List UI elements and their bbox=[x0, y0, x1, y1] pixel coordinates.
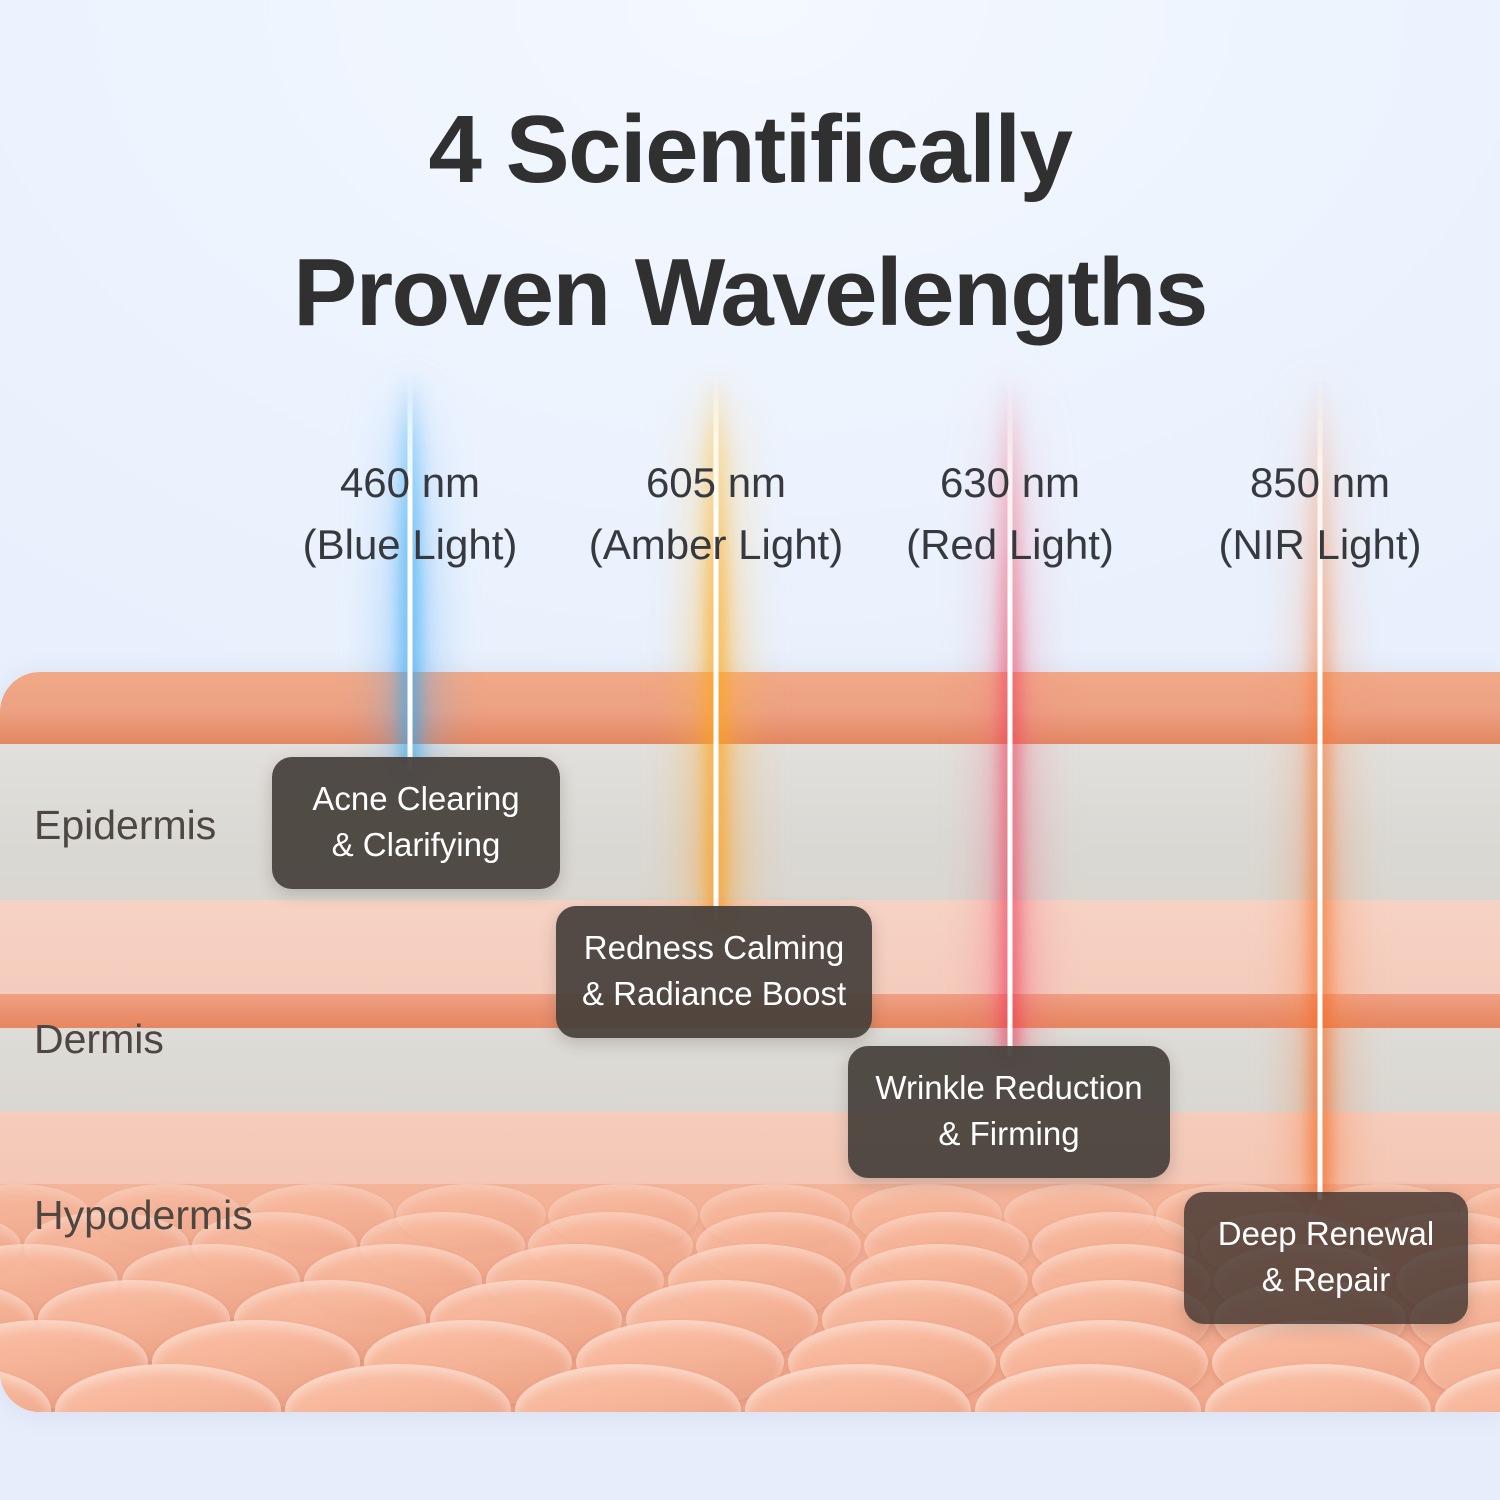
title-line-2: Proven Wavelengths bbox=[0, 221, 1500, 364]
layer-label-dermis: Dermis bbox=[34, 1014, 164, 1064]
callout-redness-calming[interactable]: Redness Calming & Radiance Boost bbox=[556, 906, 872, 1038]
fat-lobule bbox=[745, 1364, 971, 1412]
layer-label-epidermis: Epidermis bbox=[34, 800, 216, 850]
callout-line-1: Acne Clearing bbox=[312, 780, 519, 817]
wavelength-label-amber: 605 nm(Amber Light) bbox=[589, 452, 843, 576]
wavelength-label-blue: 460 nm(Blue Light) bbox=[303, 452, 518, 576]
wavelength-name: (Blue Light) bbox=[303, 514, 518, 576]
wavelength-nm: 850 nm bbox=[1218, 452, 1421, 514]
wavelength-name: (Red Light) bbox=[906, 514, 1114, 576]
fat-lobule bbox=[1205, 1364, 1431, 1412]
fat-lobule bbox=[55, 1364, 281, 1412]
wavelength-name: (NIR Light) bbox=[1218, 514, 1421, 576]
epidermis-band bbox=[0, 744, 1500, 910]
callout-acne-clearing[interactable]: Acne Clearing & Clarifying bbox=[272, 757, 560, 889]
fat-lobule bbox=[515, 1364, 741, 1412]
callout-deep-renewal[interactable]: Deep Renewal & Repair bbox=[1184, 1192, 1468, 1324]
wavelength-name: (Amber Light) bbox=[589, 514, 843, 576]
layer-label-hypodermis: Hypodermis bbox=[34, 1190, 253, 1240]
wavelength-nm: 605 nm bbox=[589, 452, 843, 514]
callout-line-2: & Radiance Boost bbox=[582, 971, 846, 1017]
callout-line-1: Deep Renewal bbox=[1218, 1215, 1434, 1252]
fat-lobule bbox=[1435, 1364, 1500, 1412]
lobule-row bbox=[0, 1364, 1500, 1412]
infographic-canvas: 4 Scientifically Proven Wavelengths 460 … bbox=[0, 0, 1500, 1500]
callout-wrinkle-reduction[interactable]: Wrinkle Reduction & Firming bbox=[848, 1046, 1170, 1178]
fat-lobule bbox=[0, 1364, 51, 1412]
reticular-gray-band bbox=[0, 1028, 1500, 1124]
title-line-1: 4 Scientifically bbox=[0, 78, 1500, 221]
page-title: 4 Scientifically Proven Wavelengths bbox=[0, 78, 1500, 364]
wavelength-nm: 630 nm bbox=[906, 452, 1114, 514]
wavelength-label-red: 630 nm(Red Light) bbox=[906, 452, 1114, 576]
fat-lobule bbox=[285, 1364, 511, 1412]
callout-line-2: & Clarifying bbox=[298, 822, 534, 868]
wavelength-label-nir: 850 nm(NIR Light) bbox=[1218, 452, 1421, 576]
callout-line-1: Redness Calming bbox=[584, 929, 844, 966]
callout-line-1: Wrinkle Reduction bbox=[875, 1069, 1142, 1106]
fat-lobule bbox=[975, 1364, 1201, 1412]
callout-line-2: & Repair bbox=[1210, 1257, 1442, 1303]
callout-line-2: & Firming bbox=[874, 1111, 1144, 1157]
wavelength-nm: 460 nm bbox=[303, 452, 518, 514]
